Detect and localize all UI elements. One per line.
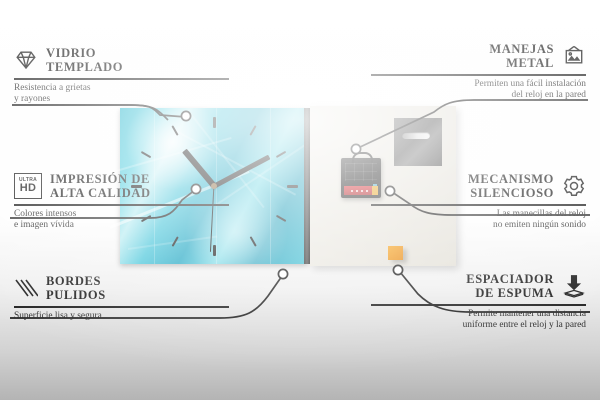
callout-mecanismo-silencioso: MECANISMO SILENCIOSO Las manecillas del … (371, 172, 586, 232)
callout-title: MANEJAS METAL (489, 42, 554, 70)
callout-vidrio-templado: VIDRIO TEMPLADO Resistencia a grietas y … (14, 46, 229, 106)
hour-tick (141, 150, 152, 157)
callout-title: VIDRIO TEMPLADO (46, 46, 123, 74)
hour-tick (287, 185, 298, 188)
callout-divider (371, 304, 586, 306)
metal-hanger-plate (394, 118, 442, 166)
callout-header: MANEJAS METAL (371, 42, 586, 70)
callout-subtitle: Colores intensos e imagen vívida (14, 209, 229, 232)
callout-subtitle: Resistencia a grietas y rayones (14, 83, 229, 106)
callout-header: ultra HD IMPRESIÓN DE ALTA CALIDAD (14, 172, 229, 200)
callout-subtitle: Permiten una fácil instalación del reloj… (371, 79, 586, 102)
callout-header: MECANISMO SILENCIOSO (371, 172, 586, 200)
infographic-canvas: VIDRIO TEMPLADO Resistencia a grietas y … (0, 0, 600, 400)
callout-title: BORDES PULIDOS (46, 274, 106, 302)
hanger-slot (402, 132, 430, 139)
hour-tick (213, 245, 216, 256)
hd-badge-large-text: HD (20, 183, 37, 194)
callout-divider (14, 306, 229, 308)
hour-tick (171, 125, 178, 136)
arrow-down-onto-pad-icon (562, 274, 586, 298)
callout-manejas-metal: MANEJAS METAL Permiten una fácil instala… (371, 42, 586, 102)
callout-divider (371, 74, 586, 76)
hour-tick (276, 150, 287, 157)
callout-subtitle: Permite mantener una distancia uniforme … (371, 309, 586, 332)
diamond-icon (14, 48, 38, 72)
callout-divider (14, 78, 229, 80)
callout-divider (14, 204, 229, 206)
picture-frame-hanging-icon (562, 44, 586, 68)
hour-tick (249, 125, 256, 136)
callout-impresion-alta-calidad: ultra HD IMPRESIÓN DE ALTA CALIDAD Color… (14, 172, 229, 232)
hour-tick (249, 236, 256, 247)
callout-bordes-pulidos: BORDES PULIDOS Superficie lisa y segura (14, 274, 229, 322)
callout-header: ESPACIADOR DE ESPUMA (371, 272, 586, 300)
callout-header: BORDES PULIDOS (14, 274, 229, 302)
hour-tick (276, 214, 287, 221)
mechanism-hook (352, 152, 373, 163)
gear-icon (562, 174, 586, 198)
hour-tick (171, 236, 178, 247)
diagonal-lines-icon (14, 276, 38, 300)
callout-divider (371, 204, 586, 206)
foam-spacer (388, 246, 403, 260)
callout-title: IMPRESIÓN DE ALTA CALIDAD (50, 172, 151, 200)
callout-header: VIDRIO TEMPLADO (14, 46, 229, 74)
callout-subtitle: Superficie lisa y segura (14, 311, 229, 323)
callout-title: MECANISMO SILENCIOSO (468, 172, 554, 200)
callout-subtitle: Las manecillas del reloj no emiten ningú… (371, 209, 586, 232)
ultra-hd-badge-icon: ultra HD (14, 173, 42, 199)
battery-label (351, 188, 371, 193)
callout-espaciador-espuma: ESPACIADOR DE ESPUMA Permite mantener un… (371, 272, 586, 332)
hour-tick (213, 117, 216, 128)
callout-title: ESPACIADOR DE ESPUMA (466, 272, 554, 300)
